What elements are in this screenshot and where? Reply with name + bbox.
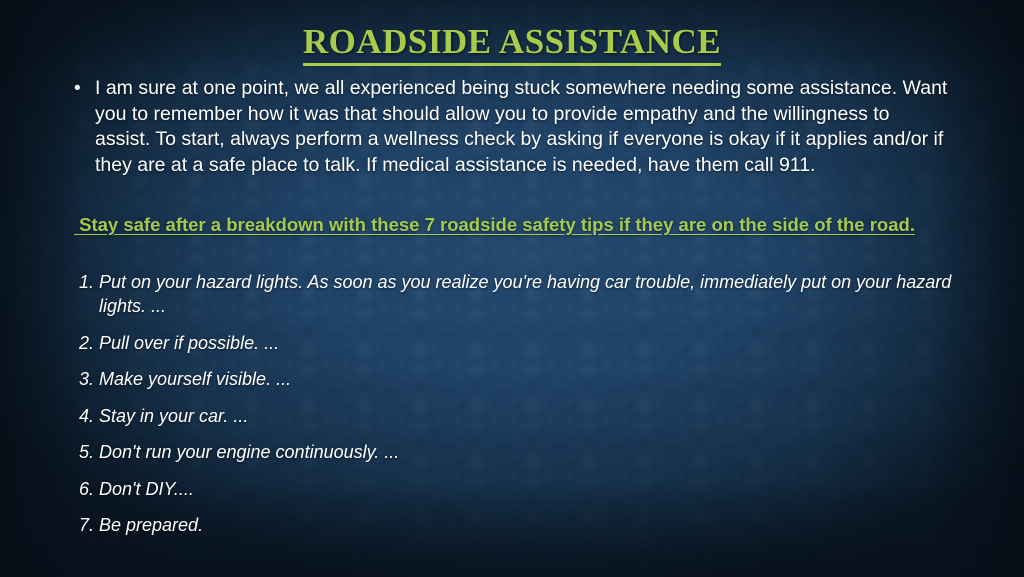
presentation-slide: ROADSIDE ASSISTANCE • I am sure at one p… xyxy=(0,0,1024,577)
slide-content: ROADSIDE ASSISTANCE • I am sure at one p… xyxy=(0,0,1024,577)
list-item-text: Don't DIY.... xyxy=(99,477,959,501)
safety-tips-list: 1. Put on your hazard lights. As soon as… xyxy=(79,270,959,550)
list-item-text: Put on your hazard lights. As soon as yo… xyxy=(99,270,959,318)
slide-title: ROADSIDE ASSISTANCE xyxy=(0,22,1024,66)
intro-paragraph-text: I am sure at one point, we all experienc… xyxy=(95,76,949,178)
list-item-number: 1. xyxy=(79,270,99,318)
list-item-text: Be prepared. xyxy=(99,513,959,537)
list-item-text: Pull over if possible. ... xyxy=(99,331,959,355)
list-item: 2. Pull over if possible. ... xyxy=(79,331,959,355)
list-item-text: Don't run your engine continuously. ... xyxy=(99,440,959,464)
list-item-number: 7. xyxy=(79,513,99,537)
list-item-number: 3. xyxy=(79,367,99,391)
list-item-text: Stay in your car. ... xyxy=(99,404,959,428)
bullet-point-icon: • xyxy=(74,76,95,178)
list-item-number: 2. xyxy=(79,331,99,355)
list-item-number: 6. xyxy=(79,477,99,501)
list-item-number: 4. xyxy=(79,404,99,428)
list-item: 6. Don't DIY.... xyxy=(79,477,959,501)
list-item-number: 5. xyxy=(79,440,99,464)
subheading-text: Stay safe after a breakdown with these 7… xyxy=(74,212,952,238)
list-item: 1. Put on your hazard lights. As soon as… xyxy=(79,270,959,318)
intro-bullet-item: • I am sure at one point, we all experie… xyxy=(74,76,949,178)
list-item: 7. Be prepared. xyxy=(79,513,959,537)
list-item: 5. Don't run your engine continuously. .… xyxy=(79,440,959,464)
list-item: 4. Stay in your car. ... xyxy=(79,404,959,428)
list-item: 3. Make yourself visible. ... xyxy=(79,367,959,391)
list-item-text: Make yourself visible. ... xyxy=(99,367,959,391)
slide-title-text: ROADSIDE ASSISTANCE xyxy=(303,24,721,66)
